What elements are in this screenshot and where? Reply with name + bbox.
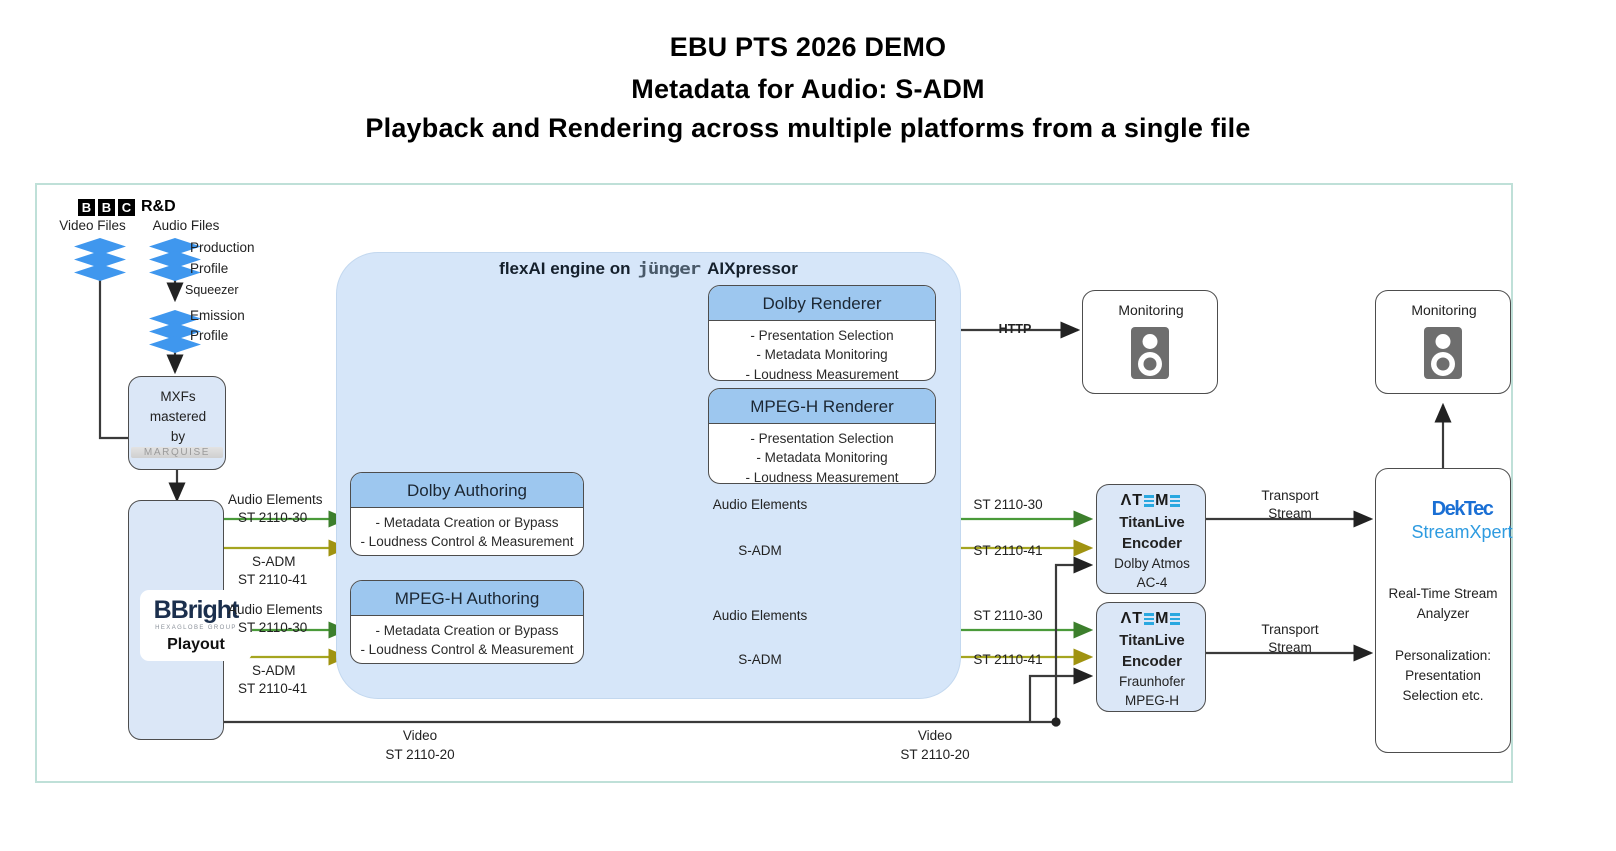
- flexai-prefix: flexAI engine on: [499, 259, 630, 279]
- bbright-logo: BBright HEXAGLOBE GROUP Playout: [140, 590, 252, 661]
- dolby-authoring-title: Dolby Authoring: [351, 473, 583, 508]
- analyzer-text-4: Presentation: [1375, 668, 1511, 685]
- flexai-engine-title: flexAI engine on jünger AIXpressor: [336, 258, 961, 280]
- emission-profile-label-2: Profile: [190, 328, 228, 345]
- video-files-label: Video Files: [45, 218, 140, 235]
- dektec-logo: DekTec StreamXpert: [1392, 498, 1532, 543]
- link-label-ae2-line2: ST 2110-30: [238, 620, 307, 637]
- encoder-dolby-codec-1: Dolby Atmos: [1097, 556, 1207, 573]
- diagram-canvas: EBU PTS 2026 DEMO Metadata for Audio: S-…: [0, 0, 1616, 851]
- analyzer-text-3: Personalization:: [1375, 648, 1511, 665]
- encoder-mpegh-codec-1: Fraunhofer: [1097, 674, 1207, 691]
- video-label-1-line1: Video: [360, 728, 480, 745]
- speaker-icon: [1131, 327, 1169, 379]
- link-label-sadm2-line1: S-ADM: [252, 663, 296, 680]
- bbright-group-label: HEXAGLOBE GROUP: [146, 625, 246, 631]
- ts-label-2-line2: Stream: [1230, 640, 1350, 657]
- encoder-mpegh-box[interactable]: ΛTM TitanLive Encoder Fraunhofer MPEG-H: [1096, 602, 1206, 712]
- mpegh-renderer-line-2: - Metadata Monitoring: [756, 450, 887, 466]
- mpegh-authoring-line-2: - Loudness Control & Measurement: [360, 642, 573, 658]
- monitoring-http-box: Monitoring: [1082, 290, 1218, 394]
- bbc-letter-b1: B: [78, 199, 95, 216]
- mpegh-authoring-box[interactable]: MPEG-H Authoring - Metadata Creation or …: [350, 580, 584, 664]
- dolby-authoring-box[interactable]: Dolby Authoring - Metadata Creation or B…: [350, 472, 584, 556]
- bbc-letter-b2: B: [98, 199, 115, 216]
- bbc-letter-c: C: [118, 199, 135, 216]
- dolby-renderer-line-1: - Presentation Selection: [750, 328, 893, 344]
- audio-files-label: Audio Files: [136, 218, 236, 235]
- mxf-label-3: by: [129, 429, 227, 446]
- junger-logo: jünger: [637, 260, 700, 278]
- link-label-sadm2-line2: ST 2110-41: [238, 681, 307, 698]
- http-label: HTTP: [975, 322, 1055, 338]
- dektec-wordmark: DekTec: [1392, 498, 1532, 521]
- analyzer-text-1: Real-Time Stream: [1375, 586, 1511, 603]
- video-files-stack-icon: [74, 238, 126, 282]
- mid-label-sadm-2: S-ADM: [700, 652, 820, 669]
- encoder-dolby-product-2: Encoder: [1097, 535, 1207, 554]
- link-label-ae1-line1: Audio Elements: [228, 492, 323, 509]
- encoder-dolby-product-1: TitanLive: [1097, 514, 1207, 533]
- emission-profile-label-1: Emission: [190, 308, 245, 325]
- dolby-authoring-line-1: - Metadata Creation or Bypass: [375, 515, 558, 531]
- monitoring-ts-label: Monitoring: [1376, 302, 1512, 320]
- production-profile-label-1: Production: [190, 240, 255, 257]
- enc-label-sadm-1: ST 2110-41: [948, 543, 1068, 560]
- mpegh-authoring-title: MPEG-H Authoring: [351, 581, 583, 616]
- link-label-sadm1-line1: S-ADM: [252, 554, 296, 571]
- streamxpert-wordmark: StreamXpert: [1392, 522, 1532, 543]
- enc-label-sadm-2: ST 2110-41: [948, 652, 1068, 669]
- title-line-3: Playback and Rendering across multiple p…: [0, 113, 1616, 144]
- monitoring-http-label: Monitoring: [1083, 302, 1219, 320]
- mpegh-renderer-line-3: - Loudness Measurement: [745, 470, 898, 484]
- link-label-ae1-line2: ST 2110-30: [238, 510, 307, 527]
- squeezer-label: Squeezer: [185, 283, 239, 299]
- enc-label-ae-2: ST 2110-30: [948, 608, 1068, 625]
- mpegh-renderer-box[interactable]: MPEG-H Renderer - Presentation Selection…: [708, 388, 936, 484]
- video-label-2-line2: ST 2110-20: [875, 747, 995, 764]
- mpegh-authoring-line-1: - Metadata Creation or Bypass: [375, 623, 558, 639]
- mid-label-ae-1: Audio Elements: [680, 497, 840, 514]
- encoder-dolby-codec-2: AC-4: [1097, 575, 1207, 592]
- speaker-icon: [1424, 327, 1462, 379]
- dolby-renderer-line-3: - Loudness Measurement: [745, 367, 898, 381]
- title-line-2: Metadata for Audio: S-ADM: [0, 74, 1616, 105]
- encoder-mpegh-codec-2: MPEG-H: [1097, 693, 1207, 710]
- encoder-mpegh-product-1: TitanLive: [1097, 632, 1207, 651]
- link-label-sadm1-line2: ST 2110-41: [238, 572, 307, 589]
- marquise-logo: MARQUISE: [131, 447, 223, 458]
- bbright-playout-label: Playout: [146, 636, 246, 654]
- ateme-logo: ΛTM: [1097, 492, 1205, 510]
- production-profile-label-2: Profile: [190, 261, 228, 278]
- encoder-mpegh-product-2: Encoder: [1097, 653, 1207, 672]
- dolby-renderer-box[interactable]: Dolby Renderer - Presentation Selection …: [708, 285, 936, 381]
- dolby-renderer-title: Dolby Renderer: [709, 286, 935, 321]
- ts-label-1-line2: Stream: [1230, 506, 1350, 523]
- mpegh-renderer-line-1: - Presentation Selection: [750, 431, 893, 447]
- encoder-dolby-box[interactable]: ΛTM TitanLive Encoder Dolby Atmos AC-4: [1096, 484, 1206, 594]
- mid-label-sadm-1: S-ADM: [700, 543, 820, 560]
- analyzer-text-5: Selection etc.: [1375, 688, 1511, 705]
- mxf-label-2: mastered: [129, 409, 227, 426]
- ts-label-2-line1: Transport: [1230, 622, 1350, 639]
- link-label-ae2-line1: Audio Elements: [228, 602, 323, 619]
- mpegh-renderer-title: MPEG-H Renderer: [709, 389, 935, 424]
- bbc-rd-text: R&D: [141, 198, 176, 216]
- title-line-1: EBU PTS 2026 DEMO: [0, 32, 1616, 63]
- mxf-label-1: MXFs: [129, 389, 227, 406]
- flexai-suffix: AIXpressor: [707, 259, 798, 279]
- dolby-authoring-line-2: - Loudness Control & Measurement: [360, 534, 573, 550]
- video-label-1-line2: ST 2110-20: [360, 747, 480, 764]
- enc-label-ae-1: ST 2110-30: [948, 497, 1068, 514]
- ateme-logo: ΛTM: [1097, 610, 1205, 628]
- dolby-renderer-line-2: - Metadata Monitoring: [756, 347, 887, 363]
- mid-label-ae-2: Audio Elements: [680, 608, 840, 625]
- bbc-rd-logo: B B C R&D: [78, 198, 176, 216]
- analyzer-text-2: Analyzer: [1375, 606, 1511, 623]
- ts-label-1-line1: Transport: [1230, 488, 1350, 505]
- video-label-2-line1: Video: [875, 728, 995, 745]
- monitoring-ts-box: Monitoring: [1375, 290, 1511, 394]
